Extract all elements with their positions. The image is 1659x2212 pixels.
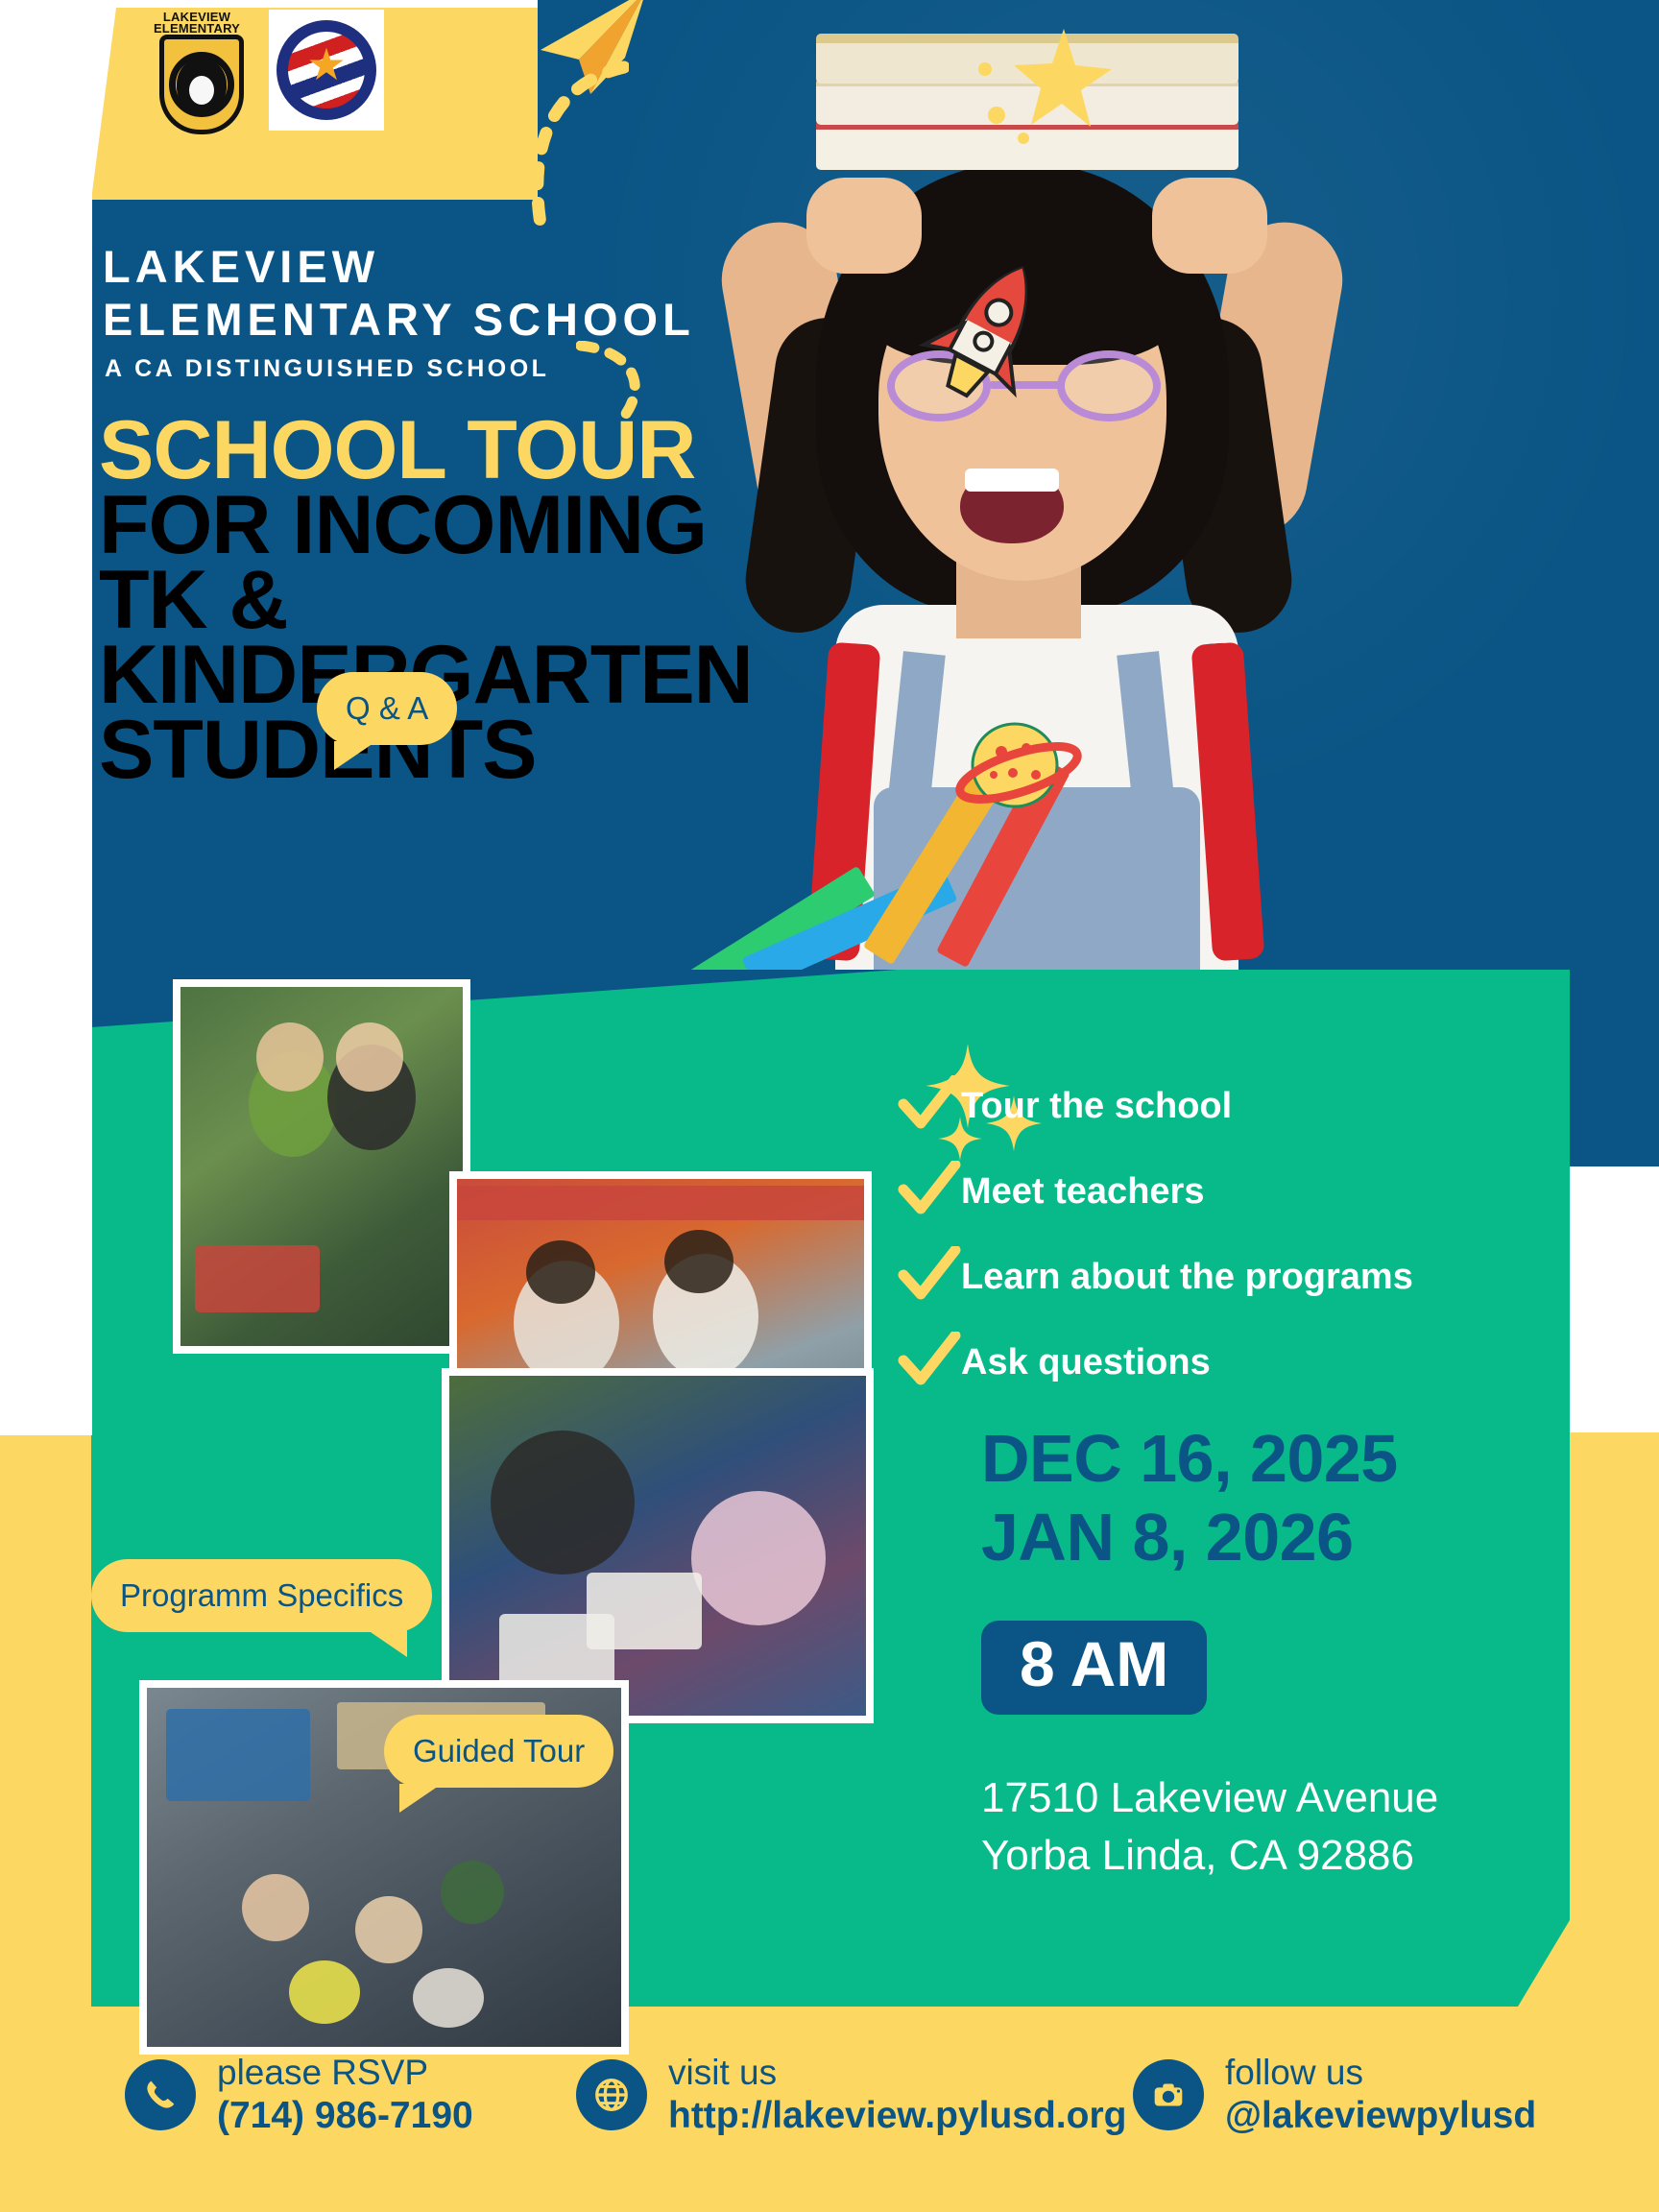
star-burst-icon: [968, 10, 1112, 154]
school-tour-flyer: LAKEVIEW ELEMENTARY ★ LAKEVIEW ELEMENTAR…: [0, 0, 1659, 2212]
lion-crest-icon: LAKEVIEW ELEMENTARY: [144, 10, 250, 144]
benefits-checklist: Tour the school Meet teachers Learn abou…: [898, 1068, 1413, 1409]
event-date-2: JAN 8, 2026: [981, 1498, 1398, 1576]
checklist-item: Meet teachers: [898, 1153, 1413, 1230]
check-icon: [898, 1075, 961, 1138]
logo-row: LAKEVIEW ELEMENTARY ★: [144, 10, 384, 144]
bubble-qa-label: Q & A: [346, 690, 428, 727]
school-name: LAKEVIEW ELEMENTARY SCHOOL: [103, 240, 695, 346]
event-date-1: DEC 16, 2025: [981, 1419, 1398, 1498]
check-icon: [898, 1332, 961, 1394]
headline-line-2: FOR INCOMING: [99, 488, 753, 563]
phone-icon: [125, 2059, 196, 2130]
footer-social-label: follow us: [1225, 2055, 1536, 2090]
check-icon: [898, 1161, 961, 1223]
checklist-item: Tour the school: [898, 1068, 1413, 1144]
event-time-badge: 8 AM: [981, 1621, 1207, 1715]
checklist-item: Ask questions: [898, 1324, 1413, 1401]
bubble-qa: Q & A: [317, 672, 457, 745]
globe-icon: [576, 2059, 647, 2130]
address-line-1: 17510 Lakeview Avenue: [981, 1769, 1438, 1827]
rocket-icon: [917, 254, 1061, 408]
bubble-tail: [334, 741, 376, 770]
bubble-program-label: Programm Specifics: [120, 1577, 403, 1614]
school-name-line2: ELEMENTARY SCHOOL: [103, 293, 695, 346]
event-address: 17510 Lakeview Avenue Yorba Linda, CA 92…: [981, 1769, 1438, 1885]
checklist-item-label: Learn about the programs: [961, 1257, 1413, 1298]
checklist-item: Learn about the programs: [898, 1238, 1413, 1315]
footer-phone-label: please RSVP: [217, 2055, 473, 2090]
event-dates: DEC 16, 2025 JAN 8, 2026: [981, 1419, 1398, 1576]
bubble-tail: [365, 1628, 407, 1657]
checklist-item-label: Meet teachers: [961, 1171, 1204, 1213]
checklist-item-label: Tour the school: [961, 1086, 1232, 1127]
lion-logo-line2: ELEMENTARY: [144, 23, 250, 35]
colored-pencils-icon: [662, 806, 1066, 970]
bubble-guided-tour: Guided Tour: [384, 1715, 613, 1788]
bubble-tail: [399, 1784, 442, 1813]
address-line-2: Yorba Linda, CA 92886: [981, 1827, 1438, 1885]
contact-footer: please RSVP (714) 986-7190 visit us http…: [0, 2055, 1659, 2179]
photo-card-students-smiling: [173, 979, 470, 1354]
checklist-item-label: Ask questions: [961, 1342, 1211, 1383]
planet-icon: [955, 715, 1085, 821]
camera-icon: [1133, 2059, 1204, 2130]
bubble-program-specifics: Programm Specifics: [91, 1559, 432, 1632]
footer-phone-value[interactable]: (714) 986-7190: [217, 2097, 473, 2134]
check-icon: [898, 1246, 961, 1309]
footer-website-label: visit us: [668, 2055, 1126, 2090]
school-subtitle: A CA DISTINGUISHED SCHOOL: [105, 355, 549, 383]
dotted-path-icon: [504, 58, 629, 240]
student-illustration: [672, 77, 1402, 970]
footer-website-block[interactable]: visit us http://lakeview.pylusd.org: [576, 2055, 1126, 2134]
school-name-line1: LAKEVIEW: [103, 240, 695, 293]
bubble-tour-label: Guided Tour: [413, 1733, 585, 1769]
california-distinguished-school-seal: ★: [269, 10, 384, 131]
footer-phone-block[interactable]: please RSVP (714) 986-7190: [125, 2055, 473, 2134]
footer-social-value[interactable]: @lakeviewpylusd: [1225, 2097, 1536, 2134]
white-left-margin: [0, 0, 92, 1435]
footer-website-value[interactable]: http://lakeview.pylusd.org: [668, 2097, 1126, 2134]
headline-line-3: TK &: [99, 563, 753, 637]
headline-line-1: SCHOOL TOUR: [99, 413, 753, 488]
photo-card-students-coloring: [442, 1368, 874, 1723]
footer-social-block[interactable]: follow us @lakeviewpylusd: [1133, 2055, 1536, 2134]
